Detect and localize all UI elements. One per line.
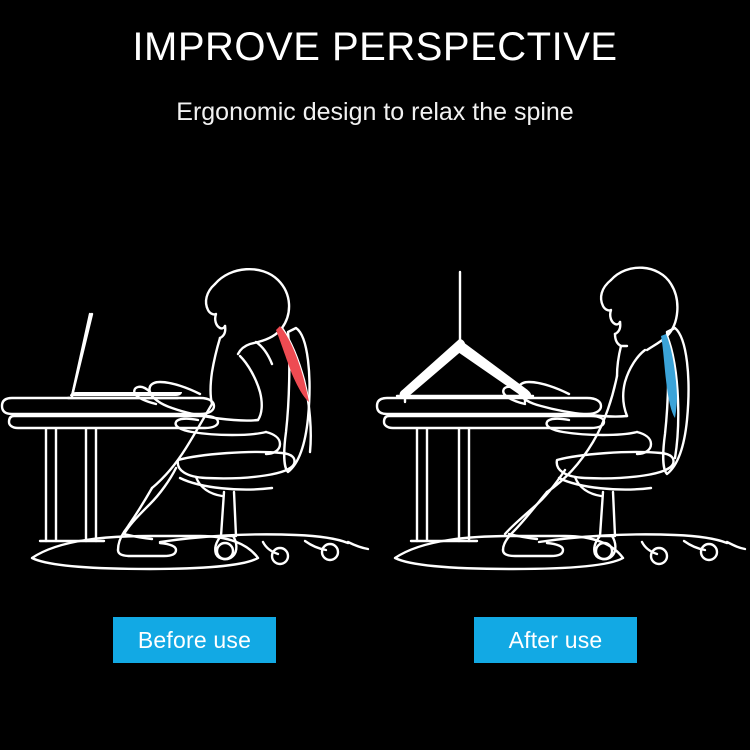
- chair-seat-icon: [557, 452, 674, 496]
- laptop-stand-icon: [397, 272, 533, 402]
- caption-after-use[interactable]: After use: [474, 617, 637, 663]
- illustration-before-use: [0, 236, 375, 596]
- person-body-icon: [118, 269, 311, 556]
- caption-after-use-label: After use: [509, 627, 603, 653]
- chair-seat-icon: [178, 452, 295, 496]
- laptop-icon: [68, 314, 182, 398]
- chair-base-icon: [539, 492, 745, 564]
- neck-relaxed-highlight-blue: [661, 334, 677, 418]
- caption-before-use-label: Before use: [138, 627, 251, 653]
- product-infographic: IMPROVE PERSPECTIVE Ergonomic design to …: [0, 0, 750, 750]
- page-subtitle: Ergonomic design to relax the spine: [0, 96, 750, 128]
- chair-base-icon: [160, 492, 368, 564]
- neck-strain-highlight-red: [276, 326, 309, 402]
- illustration-after-use: [375, 236, 750, 596]
- caption-before-use[interactable]: Before use: [113, 617, 276, 663]
- person-body-icon: [503, 268, 678, 556]
- page-title: IMPROVE PERSPECTIVE: [0, 23, 750, 71]
